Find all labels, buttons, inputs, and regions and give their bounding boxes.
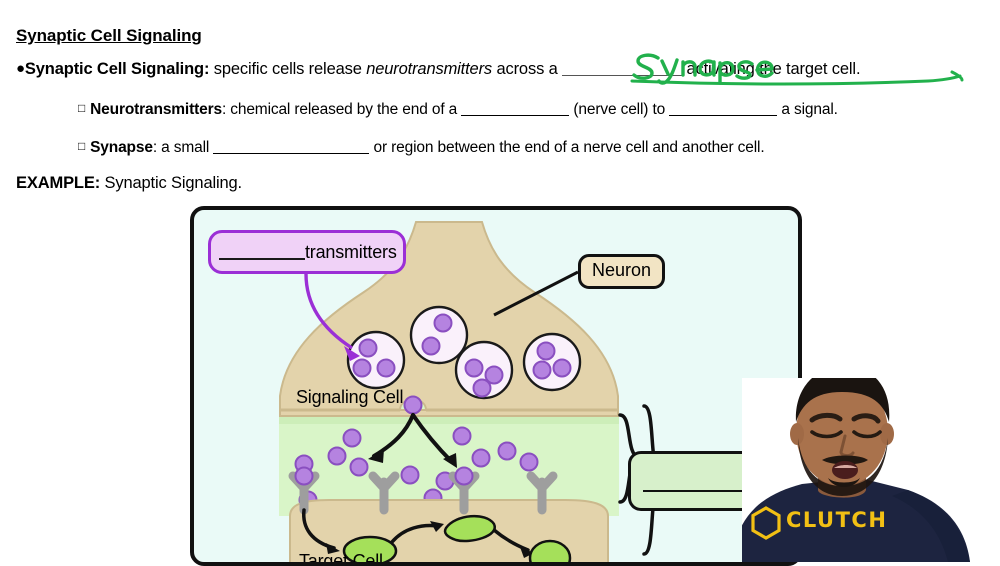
main-bullet-text-b: across a (492, 60, 562, 78)
sub-item-synapse: □Synapse: a small or region between the … (78, 139, 765, 157)
neurotransmitter (521, 454, 538, 471)
neurotransmitter (351, 459, 368, 476)
synaptic-signaling-diagram: transmitters Neuron Signaling Cell Targe… (190, 206, 802, 566)
vesicle (411, 307, 467, 363)
vesicle (524, 334, 580, 390)
neurotransmitter (402, 467, 419, 484)
neurotransmitter (499, 443, 516, 460)
main-bullet-text-c: activating the target cell. (682, 60, 860, 78)
sub-item-text-a: a small (157, 139, 213, 156)
main-bullet-term: Synaptic Cell Signaling (25, 60, 204, 78)
answer-blank-gap[interactable] (213, 153, 369, 154)
vesicle (348, 332, 404, 388)
answer-blank-synapse[interactable] (562, 75, 682, 76)
sub-item-term: Synapse (90, 139, 153, 156)
example-label: EXAMPLE: (16, 174, 100, 192)
page-title: Synaptic Cell Signaling (16, 26, 202, 46)
answer-blank-send[interactable] (669, 115, 777, 116)
example-text: Synaptic Signaling. (100, 174, 242, 192)
lecture-notes: Synaptic Cell Signaling ●Synaptic Cell S… (0, 0, 1000, 205)
clutch-wordmark: CLUTCH (786, 508, 887, 532)
signaling-protein (530, 541, 570, 566)
sub-item-text-b: (nerve cell) to (569, 101, 669, 118)
sub-item-text-b: or region between the end of a nerve cel… (369, 139, 764, 156)
neurotransmitters-label-blank[interactable] (219, 258, 305, 260)
neurotransmitters-label-text: transmitters (219, 242, 397, 263)
neurotransmitter (329, 448, 346, 465)
signaling-cell-label: Signaling Cell (296, 387, 403, 408)
instructor-mouth (832, 461, 858, 479)
instructor-webcam-overlay: CLUTCH (742, 378, 1000, 562)
checkbox-icon[interactable]: □ (78, 101, 85, 115)
neurotransmitter (454, 428, 471, 445)
bullet-marker-icon: ● (16, 60, 25, 77)
main-bullet-emphasis: neurotransmitters (366, 60, 492, 78)
example-line: EXAMPLE: Synaptic Signaling. (16, 174, 242, 193)
instructor-video (742, 378, 1000, 562)
neuron-label-box[interactable]: Neuron (578, 254, 665, 289)
checkbox-icon[interactable]: □ (78, 139, 85, 153)
answer-blank-nerve-cell[interactable] (461, 115, 569, 116)
main-bullet-text-a: specific cells release (209, 60, 366, 78)
neurotransmitter (473, 450, 490, 467)
sub-item-text-a: chemical released by the end of a (226, 101, 461, 118)
neurotransmitters-label-suffix: transmitters (305, 242, 397, 262)
sub-item-term: Neurotransmitters (90, 101, 222, 118)
bound-neurotransmitter (296, 468, 313, 485)
main-bullet: ●Synaptic Cell Signaling: specific cells… (16, 60, 860, 79)
neurotransmitter-releasing (405, 397, 422, 414)
bound-neurotransmitter (456, 468, 473, 485)
neurotransmitter (344, 430, 361, 447)
vesicle (456, 342, 512, 398)
sub-item-neurotransmitters: □Neurotransmitters: chemical released by… (78, 101, 838, 119)
neurotransmitters-label-box[interactable]: transmitters (208, 230, 406, 274)
sub-item-text-c: a signal. (777, 101, 838, 118)
target-cell-label: Target Cell (299, 551, 383, 566)
